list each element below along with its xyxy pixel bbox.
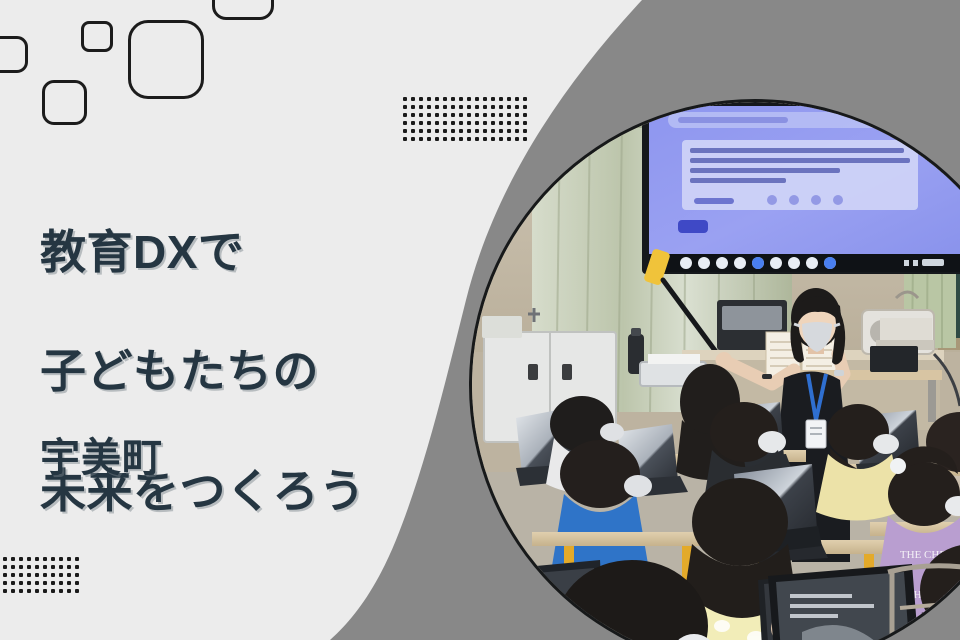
headline-line-2: 子どもたちの bbox=[40, 342, 470, 402]
dot-grid-top bbox=[400, 94, 528, 142]
page-title: 教育DXで 子どもたちの 未来をつくろう bbox=[40, 163, 470, 582]
headline-line-1: 教育DXで bbox=[40, 223, 470, 283]
hero-banner: 10:3 bbox=[0, 0, 960, 640]
organization-name: 宇美町 bbox=[40, 425, 163, 483]
